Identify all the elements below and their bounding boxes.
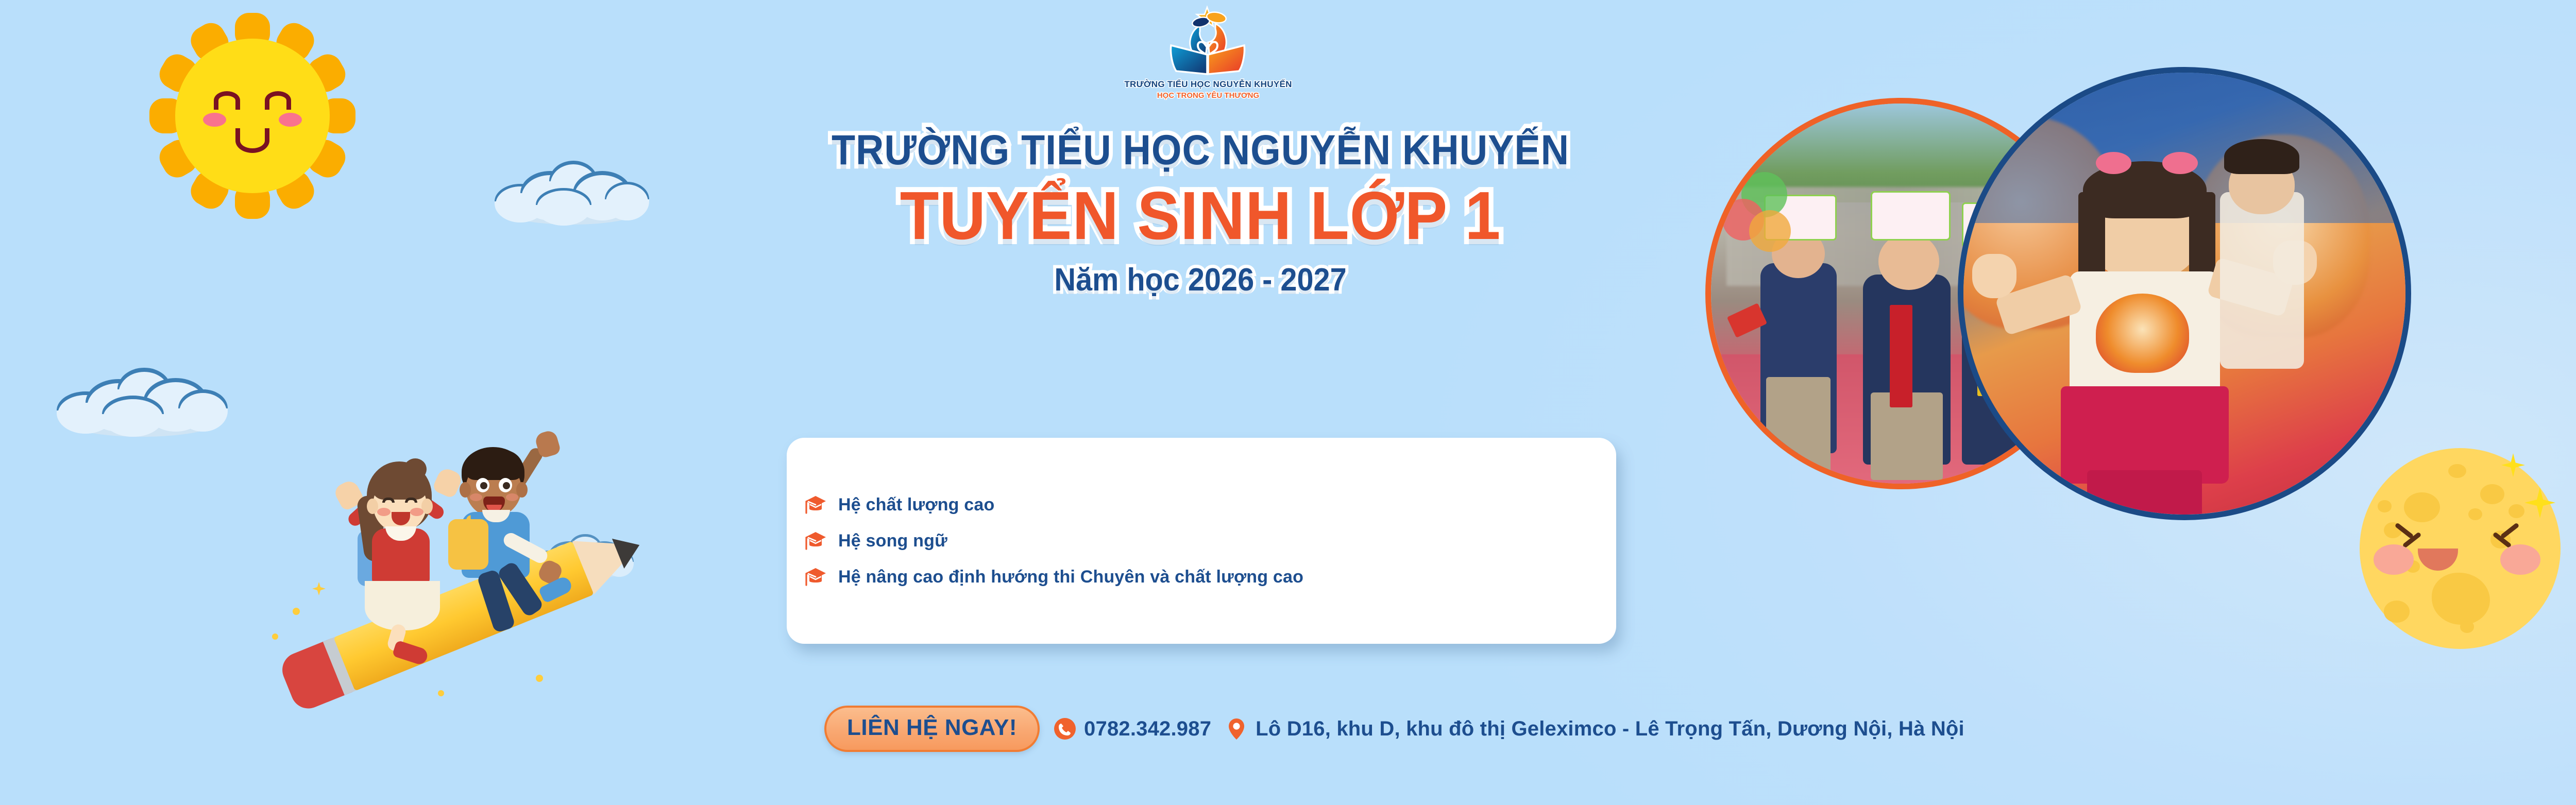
logo-tagline: HỌC TRONG YÊU THƯƠNG [1097, 91, 1319, 100]
map-pin-icon [1225, 717, 1248, 741]
phone-number: 0782.342.987 [1084, 717, 1211, 741]
headline-block: TRƯỜNG TIỂU HỌC NGUYỄN KHUYẾN TUYỂN SINH… [711, 126, 1690, 298]
graduation-cap-icon [804, 529, 827, 552]
smiling-sun-icon [149, 13, 355, 219]
cloud-icon [495, 155, 649, 227]
phone-icon [1053, 717, 1077, 741]
program-label: Hệ nâng cao định hướng thi Chuyên và chấ… [838, 567, 1303, 587]
list-item: Hệ song ngữ [804, 529, 1596, 552]
contact-bar: LIÊN HỆ NGAY! 0782.342.987 Lô D16, khu D… [824, 706, 1964, 752]
smiling-moon-icon [2360, 448, 2561, 649]
graduation-cap-icon [804, 566, 827, 588]
program-label: Hệ song ngữ [838, 531, 947, 551]
photo-girl-lion-dance-costume [1958, 67, 2411, 520]
logo-school-name: TRƯỜNG TIỂU HỌC NGUYỄN KHUYẾN [1097, 79, 1319, 90]
program-label: Hệ chất lượng cao [838, 495, 994, 515]
list-item: Hệ chất lượng cao [804, 493, 1596, 516]
admissions-banner: TRƯỜNG TIỂU HỌC NGUYỄN KHUYẾN HỌC TRONG … [0, 0, 2576, 805]
programs-card: Hệ chất lượng cao Hệ song ngữ [787, 438, 1616, 644]
kid-boy [438, 447, 567, 627]
sun-face [175, 39, 330, 193]
address-text: Lô D16, khu D, khu đô thị Geleximco - Lê… [1256, 717, 1964, 741]
address-contact[interactable]: Lô D16, khu D, khu đô thị Geleximco - Lê… [1225, 717, 1964, 741]
contact-now-button[interactable]: LIÊN HỆ NGAY! [824, 706, 1040, 752]
cloud-icon [57, 361, 227, 438]
headline-school-year: Năm học 2026 - 2027 [745, 262, 1656, 298]
school-emblem-book-heart-icon [1162, 1, 1255, 78]
graduation-cap-icon [804, 493, 827, 516]
list-item: Hệ nâng cao định hướng thi Chuyên và chấ… [804, 566, 1596, 588]
headline-main: TUYỂN SINH LỚP 1 [740, 177, 1660, 254]
phone-contact[interactable]: 0782.342.987 [1053, 717, 1211, 741]
school-logo: TRƯỜNG TIỂU HỌC NGUYỄN KHUYẾN HỌC TRONG … [1097, 1, 1319, 100]
headline-school-name: TRƯỜNG TIỂU HỌC NGUYỄN KHUYẾN [750, 126, 1651, 175]
kids-riding-pencil-illustration [268, 453, 639, 700]
